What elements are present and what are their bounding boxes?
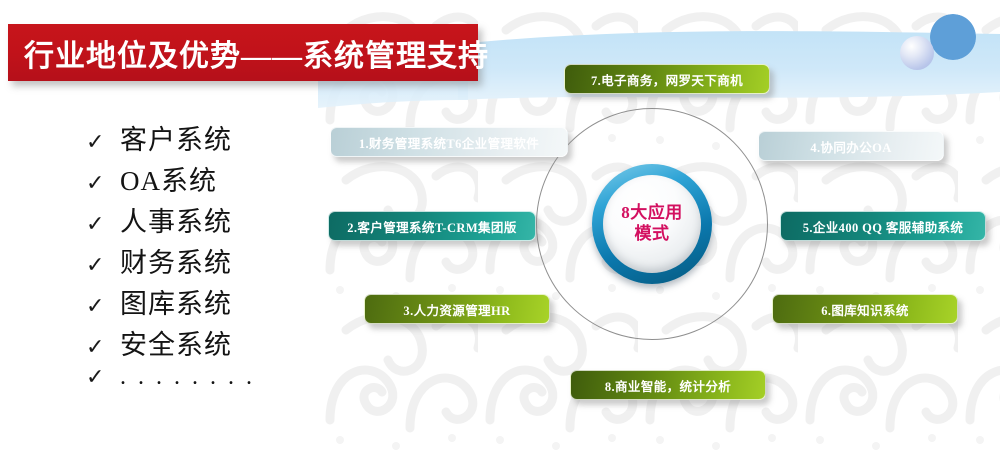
diagram-node-2[interactable]: 2.客户管理系统T-CRM集团版 bbox=[328, 211, 536, 241]
hub-label-line1: 8大应用 bbox=[621, 203, 683, 224]
checkmark-icon: ✓ bbox=[86, 132, 120, 154]
list-item: ✓ OA系统 bbox=[86, 159, 306, 200]
diagram-node-3-label: 3.人力资源管理HR bbox=[393, 300, 520, 319]
diagram-node-4[interactable]: 4.协同办公OA bbox=[758, 131, 944, 161]
diagram-node-5-label: 5.企业400 QQ 客服辅助系统 bbox=[793, 217, 974, 236]
diagram-node-6[interactable]: 6.图库知识系统 bbox=[772, 294, 958, 324]
checkmark-icon: ✓ bbox=[86, 337, 120, 359]
diagram-node-5[interactable]: 5.企业400 QQ 客服辅助系统 bbox=[780, 211, 986, 241]
bullet-label: OA系统 bbox=[120, 159, 217, 198]
bullet-label: 图库系统 bbox=[120, 282, 232, 321]
bullet-label: . . . . . . . . bbox=[120, 364, 255, 391]
bullet-label: 安全系统 bbox=[120, 323, 232, 362]
diagram-node-3[interactable]: 3.人力资源管理HR bbox=[364, 294, 550, 324]
bullet-label: 客户系统 bbox=[120, 118, 232, 157]
bullet-label: 人事系统 bbox=[120, 200, 232, 239]
list-item: ✓ . . . . . . . . bbox=[86, 364, 306, 405]
slide-canvas: 行业地位及优势——系统管理支持 ✓ 客户系统 ✓ OA系统 ✓ 人事系统 ✓ 财… bbox=[0, 0, 1000, 462]
checkmark-icon: ✓ bbox=[86, 214, 120, 236]
diagram-node-1[interactable]: 1.财务管理系统T6企业管理软件 bbox=[330, 127, 568, 157]
diagram-node-2-label: 2.客户管理系统T-CRM集团版 bbox=[337, 217, 526, 236]
bullet-label: 财务系统 bbox=[120, 241, 232, 280]
list-item: ✓ 图库系统 bbox=[86, 282, 306, 323]
diagram-node-4-label: 4.协同办公OA bbox=[800, 137, 901, 156]
diagram-center-hub: 8大应用 模式 bbox=[592, 164, 712, 284]
feature-bullet-list: ✓ 客户系统 ✓ OA系统 ✓ 人事系统 ✓ 财务系统 ✓ 图库系统 ✓ 安全系… bbox=[86, 118, 306, 405]
diagram-node-8-label: 8.商业智能，统计分析 bbox=[595, 376, 741, 395]
diagram-node-6-label: 6.图库知识系统 bbox=[811, 300, 919, 319]
list-item: ✓ 客户系统 bbox=[86, 118, 306, 159]
eight-application-modes-diagram: 8大应用 模式 1.财务管理系统T6企业管理软件 2.客户管理系统T-CRM集团… bbox=[330, 48, 1000, 438]
list-item: ✓ 人事系统 bbox=[86, 200, 306, 241]
diagram-node-7-label: 7.电子商务，网罗天下商机 bbox=[581, 70, 753, 89]
hub-inner-sphere: 8大应用 模式 bbox=[603, 175, 701, 273]
checkmark-icon: ✓ bbox=[86, 367, 120, 389]
list-item: ✓ 安全系统 bbox=[86, 323, 306, 364]
hub-label-line2: 模式 bbox=[635, 224, 670, 245]
checkmark-icon: ✓ bbox=[86, 296, 120, 318]
diagram-node-8[interactable]: 8.商业智能，统计分析 bbox=[570, 370, 766, 400]
diagram-node-1-label: 1.财务管理系统T6企业管理软件 bbox=[349, 133, 549, 152]
diagram-node-7[interactable]: 7.电子商务，网罗天下商机 bbox=[564, 64, 770, 94]
checkmark-icon: ✓ bbox=[86, 255, 120, 277]
list-item: ✓ 财务系统 bbox=[86, 241, 306, 282]
checkmark-icon: ✓ bbox=[86, 173, 120, 195]
